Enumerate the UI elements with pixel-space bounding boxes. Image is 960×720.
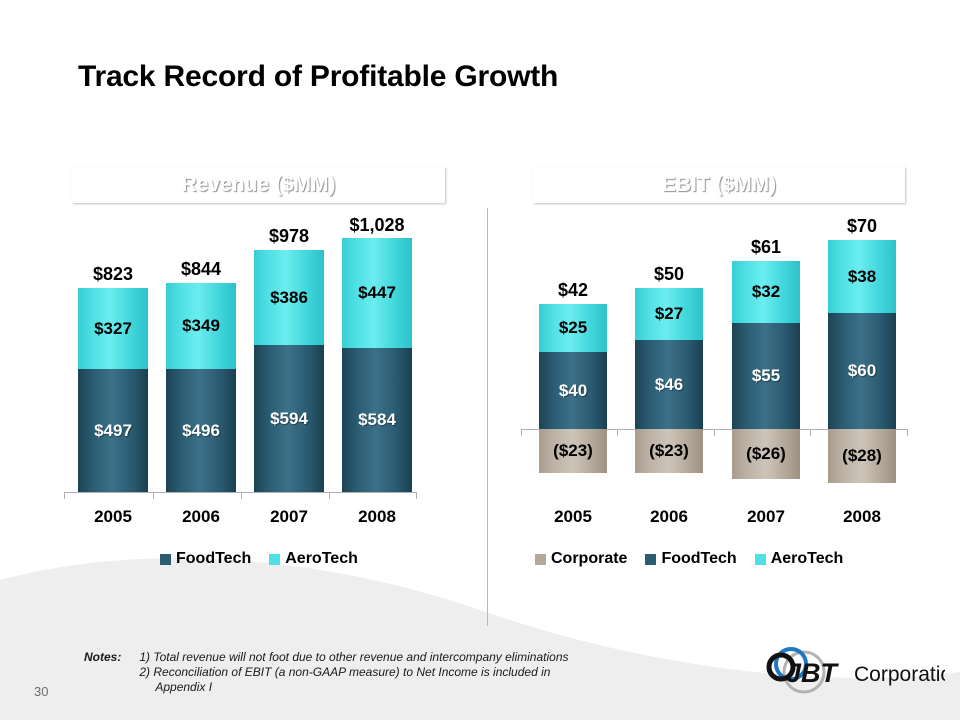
legend-item-foodtech[interactable]: FoodTech [645, 550, 736, 568]
bar-total-label: $1,028 [342, 215, 412, 236]
x-axis-label-2007: 2007 [732, 507, 800, 527]
axis-tick [714, 429, 715, 436]
bar-segment-corporate[interactable]: ($23) [539, 429, 607, 473]
legend-swatch-icon [535, 554, 546, 565]
bar-segment-aerotech[interactable]: $327 [78, 288, 148, 369]
page-number: 30 [34, 684, 48, 699]
bar-segment-label: $25 [559, 318, 587, 338]
plot-area-revenue: $823 $327 $497 2005 $844 $349 $496 2006 [60, 215, 460, 565]
jbt-corporation-logo: JBT Corporation [760, 642, 945, 698]
legend-ebit: Corporate FoodTech AeroTech [535, 550, 861, 568]
bar-total-label: $61 [732, 237, 800, 258]
x-axis-label-2008: 2008 [828, 507, 896, 527]
bar-segment-foodtech[interactable]: $594 [254, 345, 324, 492]
x-axis-label-2005: 2005 [539, 507, 607, 527]
bar-segment-corporate[interactable]: ($28) [828, 429, 896, 483]
legend-item-corporate[interactable]: Corporate [535, 550, 627, 568]
bar-segment-label: $386 [270, 288, 308, 308]
legend-item-aerotech[interactable]: AeroTech [269, 550, 358, 568]
bar-segment-corporate[interactable]: ($26) [732, 429, 800, 479]
x-axis-label-2007: 2007 [254, 507, 324, 527]
legend-item-foodtech[interactable]: FoodTech [160, 550, 251, 568]
bar-column-2007[interactable]: $978 $386 $594 2007 [254, 215, 324, 492]
chart-panel-ebit: EBIT ($MM) $42 $25 $40 ($23) [487, 0, 960, 720]
legend-label: FoodTech [176, 550, 251, 568]
bar-segment-aerotech[interactable]: $447 [342, 238, 412, 348]
bar-segment-aerotech[interactable]: $27 [635, 288, 703, 340]
legend-swatch-icon [160, 554, 171, 565]
chart-header-revenue: Revenue ($MM) [72, 167, 445, 203]
legend-swatch-icon [645, 554, 656, 565]
bar-segment-label: $327 [94, 319, 132, 339]
legend-item-aerotech[interactable]: AeroTech [755, 550, 844, 568]
chart-header-ebit: EBIT ($MM) [533, 167, 905, 203]
bar-total-label: $978 [254, 226, 324, 247]
axis-tick [521, 429, 522, 436]
bar-column-2008[interactable]: $1,028 $447 $584 2008 [342, 215, 412, 492]
bar-segment-foodtech[interactable]: $60 [828, 313, 896, 429]
logo-suffix: Corporation [854, 663, 945, 686]
bar-segment-label: $55 [752, 366, 780, 386]
legend-swatch-icon [269, 554, 280, 565]
bar-segment-foodtech[interactable]: $46 [635, 340, 703, 429]
bar-segment-label: $40 [559, 381, 587, 401]
footnote-item: Appendix I [139, 680, 568, 695]
x-axis-line-revenue [64, 492, 416, 493]
bar-segment-corporate[interactable]: ($23) [635, 429, 703, 473]
bar-segment-label: ($26) [746, 444, 786, 464]
bar-segment-aerotech[interactable]: $32 [732, 261, 800, 323]
legend-revenue: FoodTech AeroTech [160, 550, 376, 568]
bar-total-label: $42 [539, 280, 607, 301]
bar-total-label: $823 [78, 264, 148, 285]
footnotes-label: Notes: [84, 650, 121, 695]
bar-segment-aerotech[interactable]: $349 [166, 283, 236, 369]
bar-segment-aerotech[interactable]: $386 [254, 250, 324, 345]
bar-total-label: $70 [828, 216, 896, 237]
bar-total-label: $844 [166, 259, 236, 280]
chart-header-ebit-label: EBIT ($MM) [662, 173, 776, 197]
bar-segment-foodtech[interactable]: $496 [166, 369, 236, 492]
legend-label: Corporate [551, 550, 627, 568]
chart-header-revenue-label: Revenue ($MM) [181, 173, 335, 197]
footnotes: Notes: 1) Total revenue will not foot du… [84, 650, 569, 695]
x-axis-label-2008: 2008 [342, 507, 412, 527]
bar-segment-label: ($28) [842, 446, 882, 466]
bar-segment-label: $46 [655, 375, 683, 395]
bar-segment-foodtech[interactable]: $55 [732, 323, 800, 429]
bar-segment-foodtech[interactable]: $584 [342, 348, 412, 492]
axis-tick [153, 492, 154, 499]
x-axis-label-2006: 2006 [166, 507, 236, 527]
axis-tick [329, 492, 330, 499]
bar-segment-label: $497 [94, 421, 132, 441]
bar-segment-label: $32 [752, 282, 780, 302]
legend-label: AeroTech [285, 550, 358, 568]
bar-column-2006[interactable]: $50 $27 $46 ($23) 2006 [635, 215, 703, 492]
bar-segment-label: $27 [655, 304, 683, 324]
bar-segment-label: $349 [182, 316, 220, 336]
legend-label: FoodTech [661, 550, 736, 568]
bar-segment-foodtech[interactable]: $497 [78, 369, 148, 492]
footnotes-list: 1) Total revenue will not foot due to ot… [139, 650, 568, 695]
bar-column-2008[interactable]: $70 $38 $60 ($28) 2008 [828, 215, 896, 492]
bar-column-2005[interactable]: $42 $25 $40 ($23) 2005 [539, 215, 607, 492]
legend-label: AeroTech [771, 550, 844, 568]
bar-segment-label: $584 [358, 410, 396, 430]
bar-segment-aerotech[interactable]: $25 [539, 304, 607, 352]
bar-column-2005[interactable]: $823 $327 $497 2005 [78, 215, 148, 492]
axis-tick [810, 429, 811, 436]
bar-segment-label: $594 [270, 409, 308, 429]
bar-segment-label: $496 [182, 421, 220, 441]
logo-wordmark: JBT [786, 658, 840, 688]
bar-segment-label: $447 [358, 283, 396, 303]
axis-tick [416, 492, 417, 499]
bar-segment-label: $60 [848, 361, 876, 381]
plot-area-ebit: $42 $25 $40 ($23) 2005 $50 $27 [517, 215, 947, 565]
bar-segment-label: ($23) [553, 441, 593, 461]
footnote-item: 1) Total revenue will not foot due to ot… [139, 650, 568, 665]
bar-segment-label: $38 [848, 267, 876, 287]
chart-panel-revenue: Revenue ($MM) $823 $327 $497 2005 [0, 0, 487, 720]
axis-tick [241, 492, 242, 499]
axis-tick [907, 429, 908, 436]
bar-segment-foodtech[interactable]: $40 [539, 352, 607, 429]
bar-column-2007[interactable]: $61 $32 $55 ($26) 2007 [732, 215, 800, 492]
bar-segment-label: ($23) [649, 441, 689, 461]
axis-tick [64, 492, 65, 499]
bar-column-2006[interactable]: $844 $349 $496 2006 [166, 215, 236, 492]
footnote-item: 2) Reconciliation of EBIT (a non-GAAP me… [139, 665, 568, 680]
axis-tick [617, 429, 618, 436]
slide-canvas: Track Record of Profitable Growth Revenu… [0, 0, 960, 720]
x-axis-label-2006: 2006 [635, 507, 703, 527]
bar-segment-aerotech[interactable]: $38 [828, 240, 896, 313]
x-axis-label-2005: 2005 [78, 507, 148, 527]
legend-swatch-icon [755, 554, 766, 565]
bar-total-label: $50 [635, 264, 703, 285]
